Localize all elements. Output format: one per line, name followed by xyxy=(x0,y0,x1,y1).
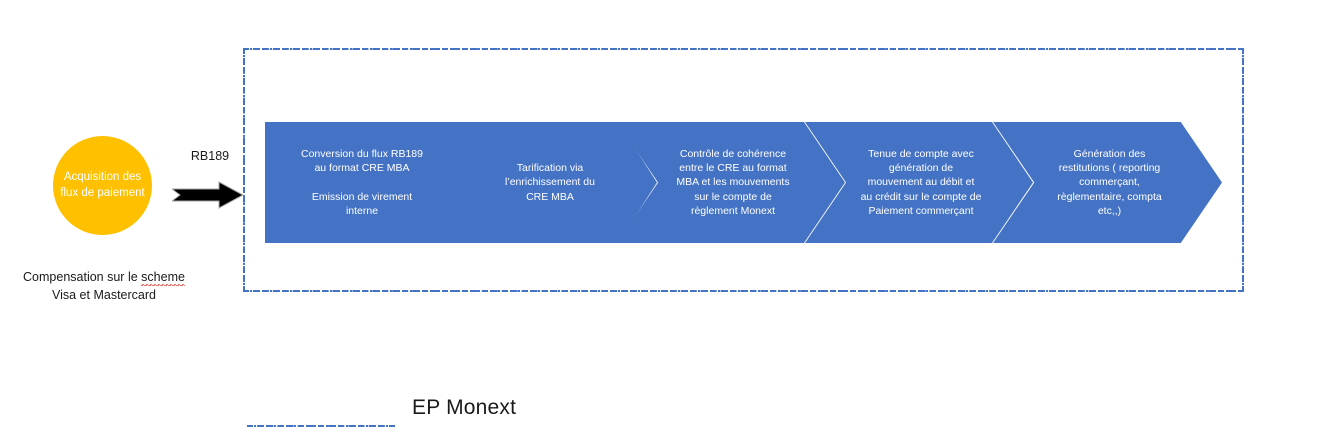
legend-label-ep-monext: EP Monext xyxy=(412,396,516,420)
rb189-connector-label: RB189 xyxy=(170,149,250,163)
right-arrow-icon xyxy=(172,180,244,210)
process-step-3-label: Contrôle de cohérence entre le CRE au fo… xyxy=(658,147,808,218)
process-step-2-label: Tarification via l’enrichissement du CRE… xyxy=(480,161,620,204)
process-step-4-label: Tenue de compte avec génération de mouve… xyxy=(845,147,997,218)
compensation-caption-line2: Visa et xyxy=(52,288,90,302)
acquisition-circle-label: Acquisition des flux de paiement xyxy=(53,170,152,200)
compensation-caption-misspelling: scheme xyxy=(141,270,185,286)
compensation-caption-line3: Mastercard xyxy=(93,288,156,302)
process-step-5-label: Génération des restitutions ( reporting … xyxy=(1035,147,1185,218)
compensation-caption-line1: Compensation sur le xyxy=(23,270,138,284)
process-step-1-label: Conversion du flux RB189 au format CRE M… xyxy=(287,147,437,218)
legend-dashed-line-swatch xyxy=(247,425,395,427)
process-step-1[interactable]: Conversion du flux RB189 au format CRE M… xyxy=(265,122,481,243)
process-chevron-band: Conversion du flux RB189 au format CRE M… xyxy=(265,122,1222,243)
acquisition-circle-node[interactable]: Acquisition des flux de paiement xyxy=(53,136,152,235)
compensation-caption: Compensation sur le scheme Visa et Maste… xyxy=(14,268,194,304)
